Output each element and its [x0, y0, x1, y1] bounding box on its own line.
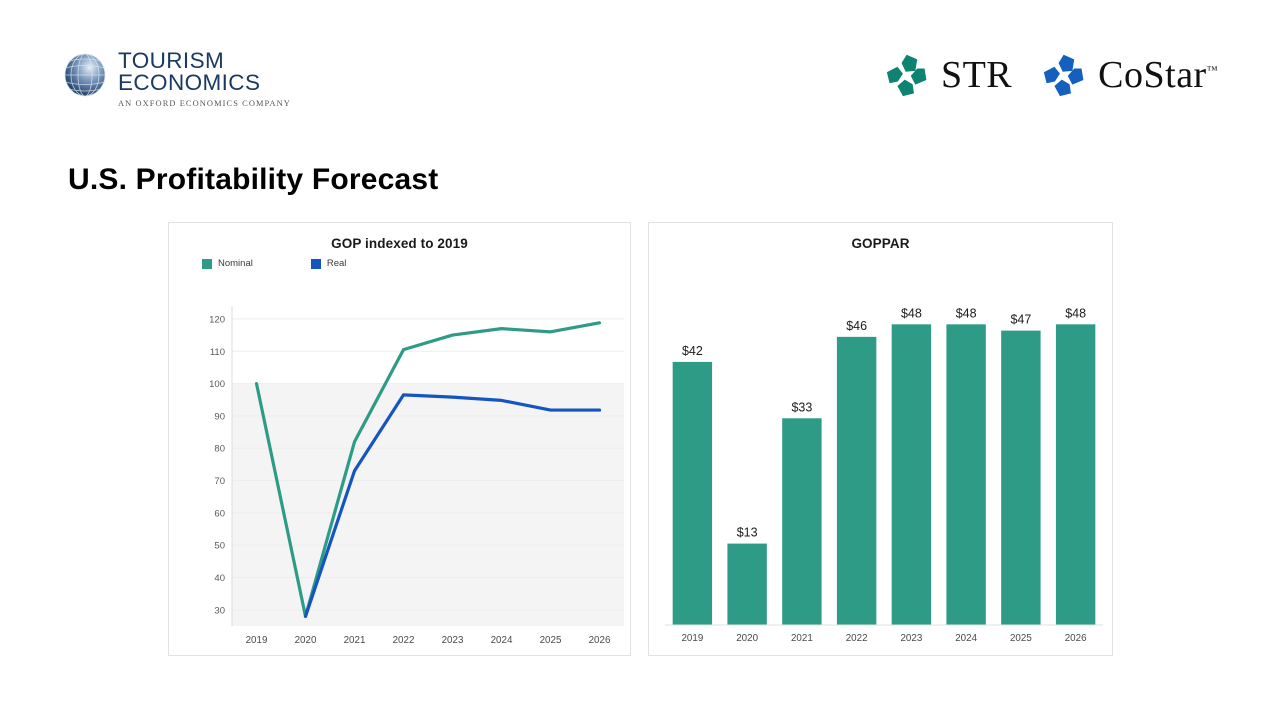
svg-text:70: 70 [214, 476, 225, 487]
svg-text:2023: 2023 [900, 633, 922, 644]
svg-text:2026: 2026 [1065, 633, 1087, 644]
svg-text:$33: $33 [791, 400, 812, 414]
brand-logos: STR CoStar™ [885, 46, 1218, 104]
goppar-bar-plot: $42$13$33$46$48$48$47$482019202020212022… [657, 271, 1107, 649]
svg-text:90: 90 [214, 411, 225, 422]
legend-label-real: Real [327, 258, 347, 269]
svg-text:2026: 2026 [589, 635, 611, 646]
chart-title-goppar: GOPPAR [649, 236, 1112, 251]
svg-text:$13: $13 [737, 526, 758, 540]
svg-text:$48: $48 [901, 306, 922, 320]
svg-text:2020: 2020 [736, 633, 758, 644]
pinwheel-icon [885, 52, 931, 98]
svg-text:80: 80 [214, 444, 225, 455]
svg-text:2025: 2025 [1010, 633, 1032, 644]
svg-text:$42: $42 [682, 344, 703, 358]
svg-text:2022: 2022 [846, 633, 868, 644]
logo-line-1: TOURISM [118, 50, 291, 72]
svg-text:2021: 2021 [344, 635, 366, 646]
logo-line-2: ECONOMICS [118, 72, 291, 94]
svg-text:60: 60 [214, 508, 225, 519]
costar-logo: CoStar™ [1042, 52, 1218, 98]
costar-wordmark: CoStar™ [1098, 56, 1218, 94]
svg-text:2025: 2025 [540, 635, 562, 646]
gop-indexed-chart-panel: GOP indexed to 2019 Nominal Real 3040506… [168, 222, 631, 656]
svg-text:100: 100 [209, 379, 225, 390]
legend-item-nominal: Nominal [202, 258, 253, 269]
svg-text:2019: 2019 [246, 635, 268, 646]
svg-text:2021: 2021 [791, 633, 813, 644]
tourism-economics-logo: TOURISM ECONOMICS AN OXFORD ECONOMICS CO… [62, 50, 332, 108]
page-title: U.S. Profitability Forecast [68, 163, 438, 197]
svg-text:$48: $48 [1065, 306, 1086, 320]
svg-text:2022: 2022 [393, 635, 415, 646]
svg-text:50: 50 [214, 541, 225, 552]
svg-text:$47: $47 [1010, 313, 1031, 327]
trademark-symbol: ™ [1207, 64, 1218, 76]
svg-text:40: 40 [214, 573, 225, 584]
bar-chart-svg: $42$13$33$46$48$48$47$482019202020212022… [657, 271, 1107, 649]
logo-tagline: AN OXFORD ECONOMICS COMPANY [118, 99, 291, 108]
svg-text:2019: 2019 [681, 633, 703, 644]
legend-swatch-nominal [202, 259, 212, 269]
svg-text:2024: 2024 [491, 635, 513, 646]
svg-text:2020: 2020 [295, 635, 317, 646]
tourism-economics-wordmark: TOURISM ECONOMICS AN OXFORD ECONOMICS CO… [118, 50, 291, 108]
svg-text:2023: 2023 [442, 635, 464, 646]
str-logo: STR [885, 52, 1012, 98]
str-wordmark: STR [941, 56, 1012, 94]
goppar-chart-panel: GOPPAR $42$13$33$46$48$48$47$48201920202… [648, 222, 1113, 656]
costar-wordmark-text: CoStar [1098, 54, 1207, 96]
svg-text:110: 110 [210, 347, 225, 358]
svg-text:$46: $46 [846, 319, 867, 333]
chart-legend: Nominal Real [202, 258, 346, 269]
svg-text:2024: 2024 [955, 633, 977, 644]
legend-item-real: Real [311, 258, 347, 269]
pinwheel-icon [1042, 52, 1088, 98]
line-chart-svg: 3040506070809010011012020192020202120222… [202, 298, 626, 650]
chart-title-gop: GOP indexed to 2019 [169, 236, 630, 251]
svg-text:30: 30 [214, 605, 225, 616]
legend-swatch-real [311, 259, 321, 269]
legend-label-nominal: Nominal [218, 258, 253, 269]
gop-line-plot: 3040506070809010011012020192020202120222… [202, 298, 624, 655]
globe-icon [62, 52, 108, 98]
svg-text:$48: $48 [956, 306, 977, 320]
svg-text:120: 120 [209, 314, 225, 325]
